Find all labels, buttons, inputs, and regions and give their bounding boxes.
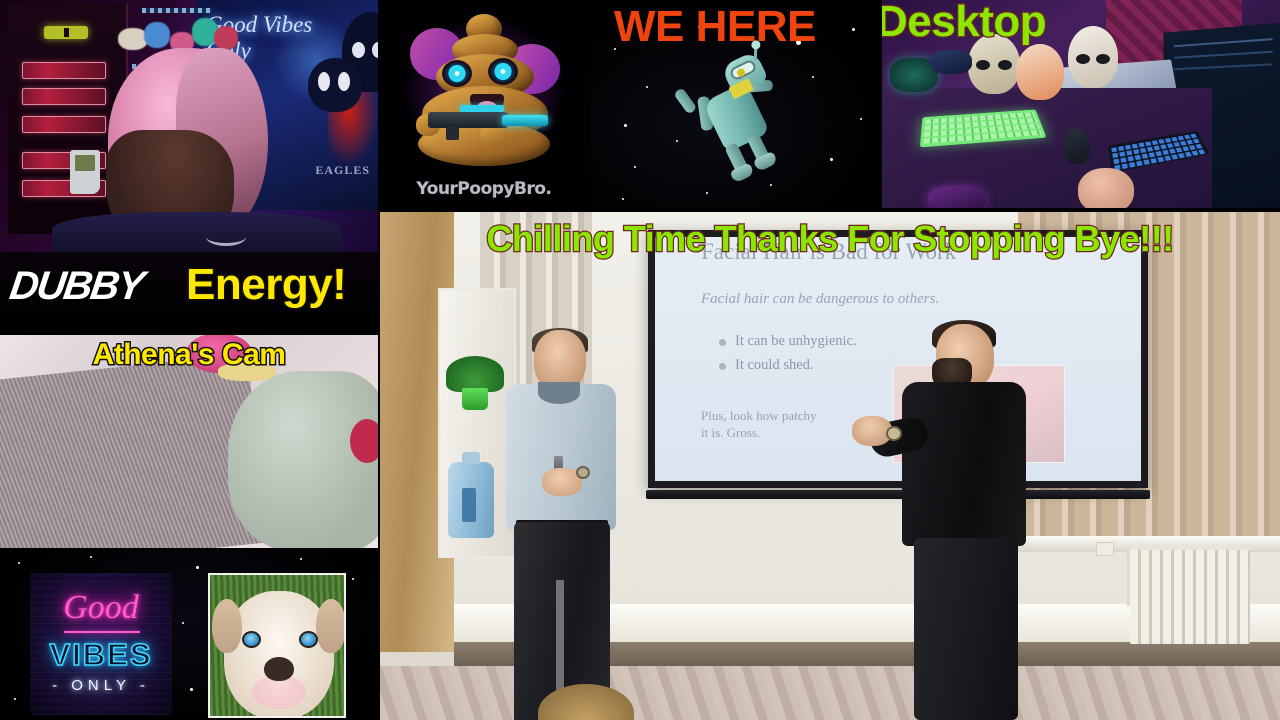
neon-line-only: - ONLY - bbox=[30, 677, 172, 694]
potted-plant bbox=[446, 356, 504, 412]
panel-streamer-webcam[interactable]: Good Vibes Only EAGLES bbox=[0, 0, 378, 252]
slide-bullet: It could shed. bbox=[719, 357, 857, 374]
poster-blob-icon bbox=[308, 58, 362, 112]
desktop-cam-caption: Desktop bbox=[882, 0, 1046, 47]
streamer-torso bbox=[52, 212, 342, 252]
slide-bullet: It can be unhygienic. bbox=[719, 333, 857, 350]
slide-note-text: Plus, look how patchy it is. Gross. bbox=[701, 407, 817, 441]
brand-name-text: YourPoopyBro. bbox=[380, 179, 588, 199]
robot-character-icon bbox=[668, 41, 809, 184]
space-panel-caption: WE HERE bbox=[614, 2, 816, 52]
grey-blanket bbox=[228, 371, 378, 548]
panel-space-clip[interactable]: WE HERE bbox=[590, 0, 880, 208]
water-cooler-jug bbox=[448, 462, 494, 538]
wall-outlet-right bbox=[1096, 542, 1114, 556]
sponsor-word: Energy! bbox=[186, 260, 346, 310]
panel-desktop-cam[interactable]: Desktop bbox=[882, 0, 1280, 208]
presenter-black-shirt bbox=[880, 324, 1040, 720]
slide-lead-text: Facial hair can be dangerous to others. bbox=[701, 291, 939, 308]
blaster-gun-icon bbox=[420, 104, 550, 138]
presenter-light-shirt bbox=[500, 330, 622, 720]
figurine-1 bbox=[968, 34, 1020, 94]
neon-line-vibes: VIBES bbox=[30, 637, 172, 673]
panel-main-video[interactable]: Facial Hair is Bad for Work Facial hair … bbox=[380, 212, 1280, 720]
panel-sponsor-bar: DUBBY Energy! bbox=[0, 252, 378, 334]
good-vibes-only-neon-sign: Good VIBES - ONLY - bbox=[30, 573, 172, 715]
figurine-3 bbox=[1068, 26, 1118, 88]
poster-team-text: EAGLES bbox=[315, 163, 370, 178]
slide-bullet-list: It can be unhygienic. It could shed. bbox=[719, 333, 857, 381]
hand bbox=[1078, 168, 1134, 208]
pink-object-secondary bbox=[350, 419, 378, 463]
necklace-chain bbox=[206, 228, 246, 246]
mouse bbox=[1064, 128, 1090, 164]
game-controller-3 bbox=[928, 186, 986, 208]
panel-athena-cam[interactable]: Athena's Cam bbox=[0, 335, 378, 548]
neon-underline bbox=[64, 631, 140, 633]
figurine-2 bbox=[1016, 44, 1064, 100]
dubby-logo: DUBBY bbox=[7, 264, 146, 309]
led-strip bbox=[142, 8, 212, 13]
gameboy-icon bbox=[70, 150, 100, 194]
neon-line-good: Good bbox=[30, 589, 172, 627]
neon-glasses-icon bbox=[44, 26, 88, 39]
dog-photo bbox=[208, 573, 346, 718]
panel-brand-logo[interactable]: YourPoopyBro. bbox=[380, 0, 588, 208]
dog-face bbox=[224, 591, 334, 718]
slide-title: Facial Hair is Bad for Work bbox=[701, 239, 1121, 265]
panel-neon-and-dog[interactable]: Good VIBES - ONLY - bbox=[0, 548, 378, 720]
game-controller-2 bbox=[930, 50, 972, 74]
radiator bbox=[1130, 546, 1250, 644]
stream-layout-canvas: Good Vibes Only EAGLES bbox=[0, 0, 1280, 720]
poop-mascot-icon bbox=[418, 14, 550, 164]
